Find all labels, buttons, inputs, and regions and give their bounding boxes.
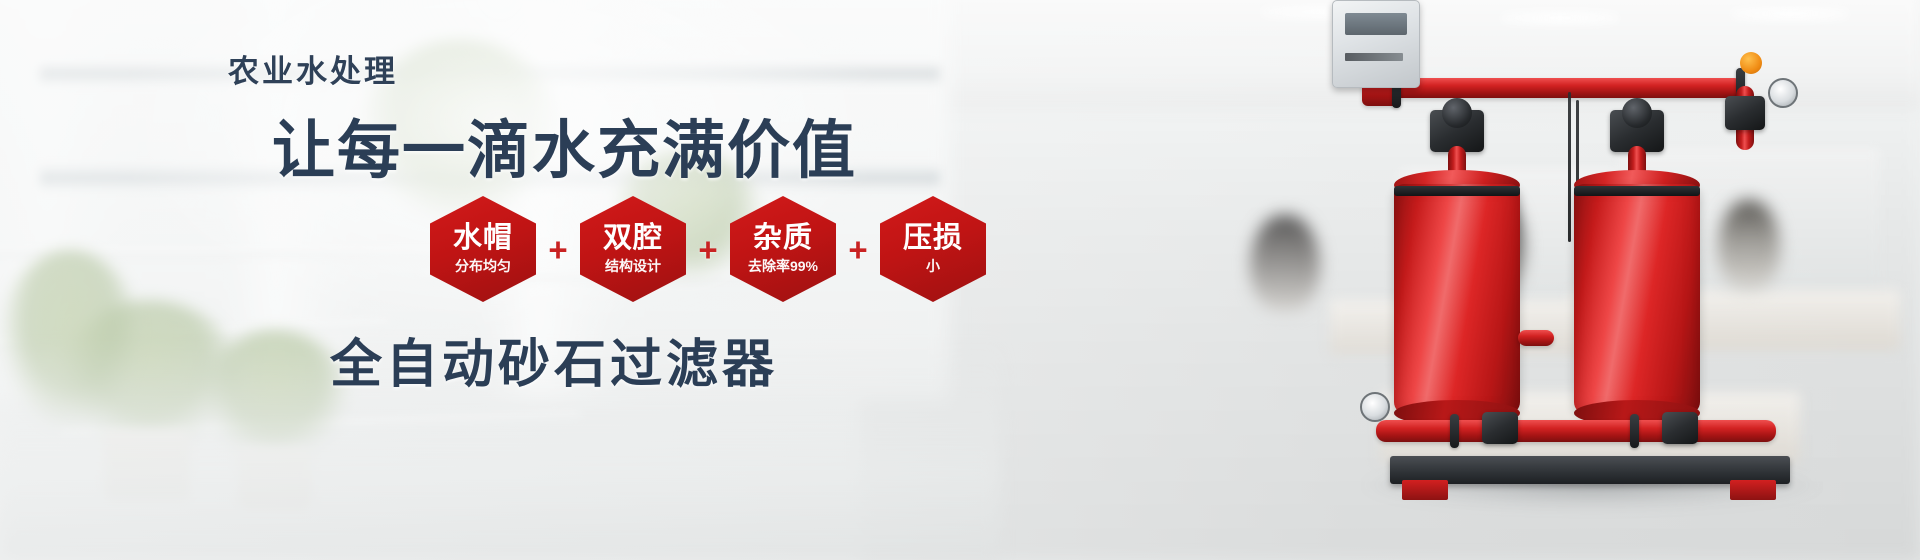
plus-separator-icon: + [836, 233, 880, 266]
skid-foot [1730, 480, 1776, 500]
drain-valve [1662, 412, 1698, 444]
tank-clamp [1394, 186, 1520, 196]
feature-title: 水帽 [453, 223, 513, 253]
air-release-valve-icon [1740, 52, 1762, 74]
product-title: 全自动砂石过滤器 [330, 322, 778, 397]
filter-tank [1574, 184, 1700, 414]
pressure-gauge [1768, 78, 1798, 108]
valve-handwheel-icon [1622, 98, 1652, 128]
hexagon-shape: 双腔 结构设计 [580, 196, 686, 302]
drain-valve [1482, 412, 1518, 444]
control-cable [1568, 92, 1571, 242]
promo-banner: 农业水处理 让每一滴水充满价值 全自动砂石过滤器 水帽 分布均匀 + 双腔 结构… [0, 0, 1920, 560]
feature-subtitle: 分布均匀 [455, 258, 511, 275]
page-title: 让每一滴水充满价值 [272, 100, 857, 191]
feature-subtitle: 去除率99% [748, 258, 818, 275]
hexagon-shape: 压损 小 [880, 196, 986, 302]
hexagon-shape: 水帽 分布均匀 [430, 196, 536, 302]
feature-subtitle: 结构设计 [605, 258, 661, 275]
feature-badge-dual-chamber[interactable]: 双腔 结构设计 [580, 196, 686, 302]
air-valve [1725, 96, 1765, 130]
feature-title: 杂质 [753, 223, 813, 253]
product-image-sand-filter [1332, 0, 1892, 560]
feature-badge-water-cap[interactable]: 水帽 分布均匀 [430, 196, 536, 302]
controller-box[interactable] [1332, 0, 1420, 88]
feature-badge-pressure-loss[interactable]: 压损 小 [880, 196, 986, 302]
pipe-flange [1630, 414, 1639, 448]
tank-clamp [1574, 186, 1700, 196]
upper-manifold-pipe [1384, 78, 1744, 98]
eyebrow-text: 农业水处理 [228, 46, 398, 91]
plus-separator-icon: + [536, 233, 580, 266]
feature-title: 双腔 [603, 223, 663, 253]
side-outlet-pipe [1518, 330, 1554, 346]
filter-tank [1394, 184, 1520, 414]
pipe-flange [1450, 414, 1459, 448]
controller-logo [1345, 53, 1403, 61]
plus-separator-icon: + [686, 233, 730, 266]
skid-foot [1402, 480, 1448, 500]
feature-badge-row: 水帽 分布均匀 + 双腔 结构设计 + 杂质 去除率99% + 压损 小 [430, 196, 986, 302]
valve-handwheel-icon [1442, 98, 1472, 128]
lower-manifold-pipe [1376, 420, 1776, 442]
hexagon-shape: 杂质 去除率99% [730, 196, 836, 302]
feature-badge-impurity[interactable]: 杂质 去除率99% [730, 196, 836, 302]
pressure-gauge [1360, 392, 1390, 422]
controller-display [1345, 13, 1407, 35]
feature-subtitle: 小 [926, 258, 940, 275]
feature-title: 压损 [903, 223, 963, 253]
